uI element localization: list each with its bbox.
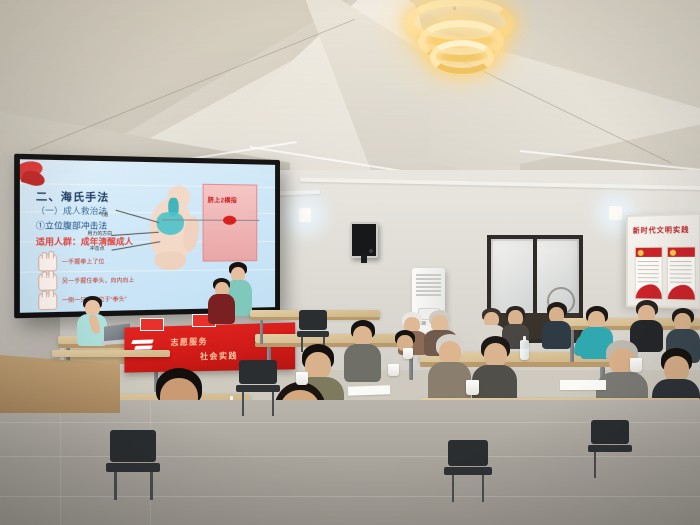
audience-member	[542, 302, 572, 348]
wall-speaker	[350, 222, 378, 258]
anatomy-label: 冲击点	[90, 245, 105, 251]
wall-sconce-left	[299, 208, 311, 222]
slide-audience-line: 适用人群：成年清醒成人	[36, 236, 133, 248]
door-pane	[493, 241, 533, 311]
training-room-photo: 新时代文明实践	[0, 0, 700, 525]
hand-grip-icon	[38, 273, 57, 290]
banner-text-right: 社会实践	[200, 350, 238, 362]
compression-point-marker	[223, 216, 236, 225]
chair[interactable]	[444, 440, 492, 502]
hand-open-icon	[38, 293, 57, 311]
slide-step-text: 另一手握住拳头，向内向上	[62, 277, 134, 285]
wall-display-board: 新时代文明实践	[626, 213, 700, 309]
head	[439, 341, 461, 364]
chair[interactable]	[106, 430, 160, 500]
hand-fist-icon	[38, 254, 57, 271]
paper-cup[interactable]	[466, 380, 479, 395]
poster-wave	[636, 284, 662, 299]
banner-text-left: 志愿服务	[171, 336, 208, 348]
paper-cup[interactable]	[403, 348, 413, 359]
place-card	[140, 318, 164, 331]
chair[interactable]	[236, 360, 280, 416]
board-poster	[635, 247, 663, 300]
desk-front-edge	[52, 350, 170, 360]
slide-step-text: 一手握拳上了位	[62, 259, 105, 267]
light-ring-inner	[430, 40, 494, 74]
audience-member	[344, 320, 382, 380]
torso	[344, 344, 381, 382]
slide-step-row: 另一手握住拳头，向内向上	[38, 273, 134, 291]
anatomy-label: 气道	[98, 212, 108, 218]
slide-title: 二、海氏手法	[36, 188, 109, 205]
board-poster	[667, 246, 696, 300]
helper-torso	[208, 294, 235, 324]
paper-cup[interactable]	[630, 358, 642, 372]
slide-step-row: 一手握拳上了位	[38, 254, 104, 272]
slide-subtitle: （一）成人救治法	[36, 205, 107, 217]
poster-header	[636, 248, 662, 257]
anatomy-illustration: 气道 用力的方向 冲击点	[140, 185, 205, 275]
head	[353, 326, 372, 346]
inset-label: 脐上2横指	[208, 195, 237, 204]
poster-header	[668, 247, 695, 256]
wall-wainscot	[0, 355, 120, 413]
speaker-indicator	[369, 249, 373, 253]
audience-member	[428, 334, 472, 404]
compression-point-inset: 脐上2横指	[203, 184, 258, 262]
chair[interactable]	[588, 420, 632, 478]
wall-sconce-right	[609, 206, 622, 220]
handout-paper[interactable]	[348, 385, 390, 395]
paper-cup[interactable]	[296, 372, 308, 385]
head	[484, 343, 507, 367]
torso	[542, 321, 571, 349]
figure-pelvis	[155, 251, 187, 270]
board-title: 新时代文明实践	[633, 225, 690, 236]
poster-seal-icon	[670, 249, 676, 255]
figure-lungs	[157, 212, 184, 235]
handout-paper[interactable]	[560, 380, 606, 390]
seated-helper	[206, 278, 238, 326]
ceiling-light-fixture	[398, 0, 514, 74]
anatomy-label: 用力的方向	[87, 231, 112, 237]
paper-cup[interactable]	[388, 364, 399, 376]
poster-seal-icon	[638, 249, 644, 255]
head	[305, 352, 331, 379]
poster-wave	[668, 285, 695, 300]
water-bottle[interactable]	[520, 340, 529, 360]
